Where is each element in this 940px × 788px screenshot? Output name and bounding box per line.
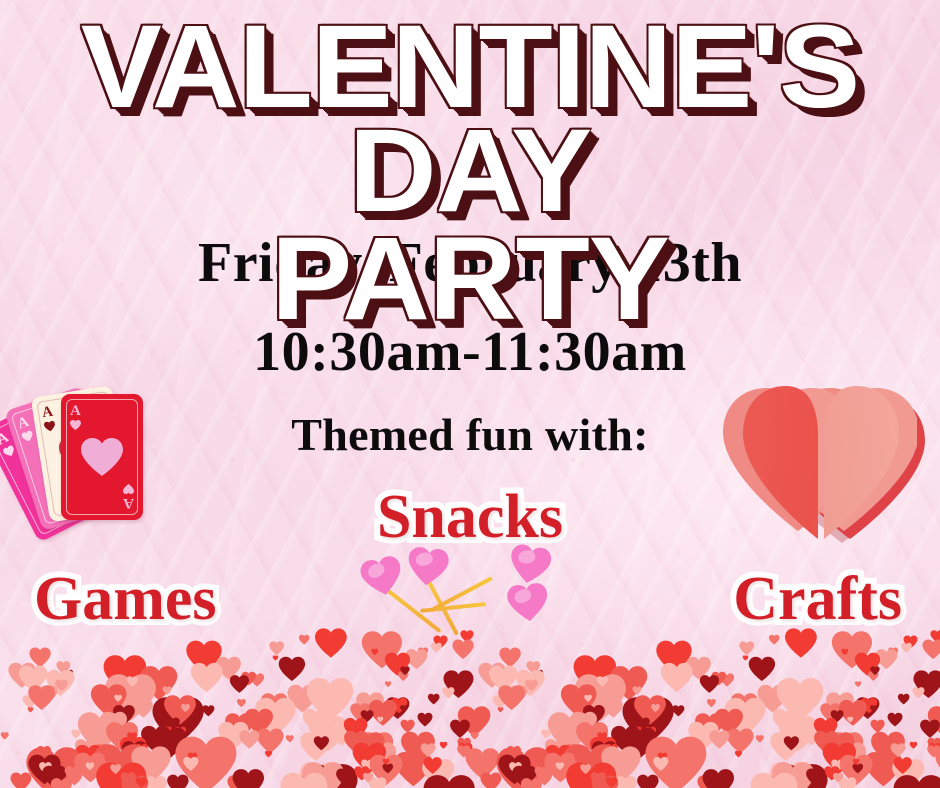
lollipop-heart-head: [506, 582, 550, 623]
activity-games-label: Games: [34, 565, 217, 633]
headline-line-2: PARTY: [0, 228, 940, 332]
page-title: VALENTINE'S DAY PARTY: [0, 16, 940, 331]
activities-lead-in: Themed fun with:: [0, 408, 940, 461]
lollipop-heart-head: [359, 554, 406, 599]
activity-crafts: Crafts: [733, 568, 902, 630]
activity-snacks: Snacks: [0, 486, 940, 548]
activity-games: Games: [34, 568, 217, 630]
activity-snacks-label: Snacks: [377, 483, 563, 551]
headline-line-1: VALENTINE'S DAY: [0, 16, 940, 224]
lollipop-stick: [420, 602, 486, 613]
activity-crafts-label: Crafts: [733, 565, 902, 633]
heart-confetti-band: [0, 628, 940, 788]
lollipop-heart-head: [406, 546, 450, 587]
valentines-day-party-flyer: VALENTINE'S DAY PARTY Friday, February 1…: [0, 0, 940, 788]
